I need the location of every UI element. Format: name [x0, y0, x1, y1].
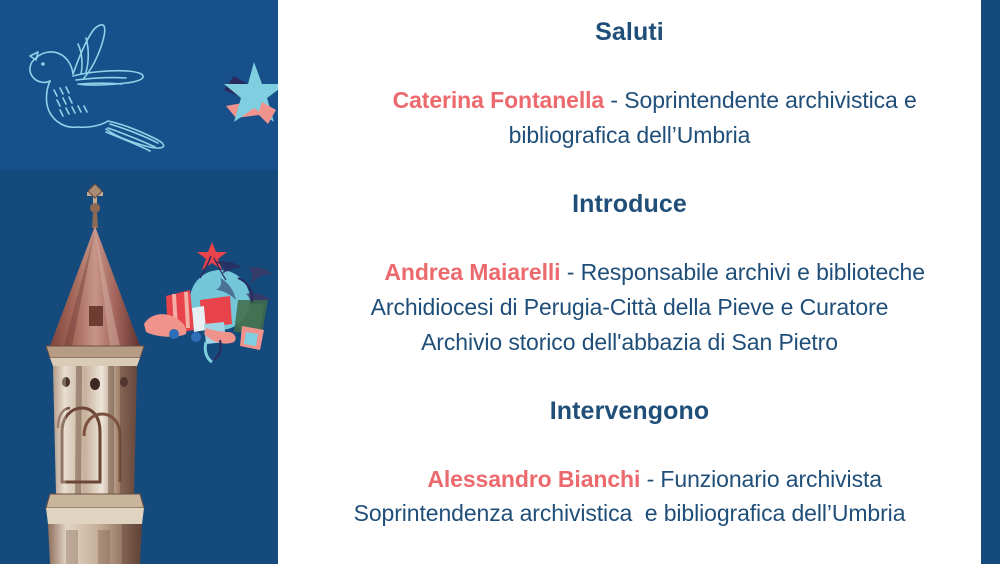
speaker-name-andrea-maiarelli: Andrea Maiarelli: [384, 259, 560, 285]
dove-illustration: [16, 14, 178, 166]
presentation-slide: Saluti Caterina Fontanella - Soprintende…: [0, 0, 1000, 564]
star-cluster-illustration: [214, 58, 278, 132]
section-body-saluti: Caterina Fontanella - Soprintendente arc…: [296, 48, 963, 188]
section-heading-intervengono: Intervengono: [296, 395, 963, 427]
speaker-name-caterina-fontanella: Caterina Fontanella: [393, 87, 605, 113]
section-body-intervengono: Alessandro Bianchi - Funzionario archivi…: [296, 427, 963, 564]
bell-tower-photo: [36, 182, 158, 564]
section-heading-introduce: Introduce: [296, 188, 963, 220]
section-introduce: Introduce: [296, 188, 963, 220]
section-intervengono: Intervengono: [296, 395, 963, 427]
section-body-introduce: Andrea Maiarelli - Responsabile archivi …: [296, 220, 963, 395]
blue-edge-stripe: [981, 0, 1000, 564]
blue-decorative-panel: [0, 0, 278, 564]
collage-illustration: [142, 238, 278, 364]
section-saluti: Saluti: [296, 16, 963, 48]
speaker-name-alessandro-bianchi: Alessandro Bianchi: [427, 466, 640, 492]
slide-content: Saluti Caterina Fontanella - Soprintende…: [278, 0, 981, 564]
section-heading-saluti: Saluti: [296, 16, 963, 48]
